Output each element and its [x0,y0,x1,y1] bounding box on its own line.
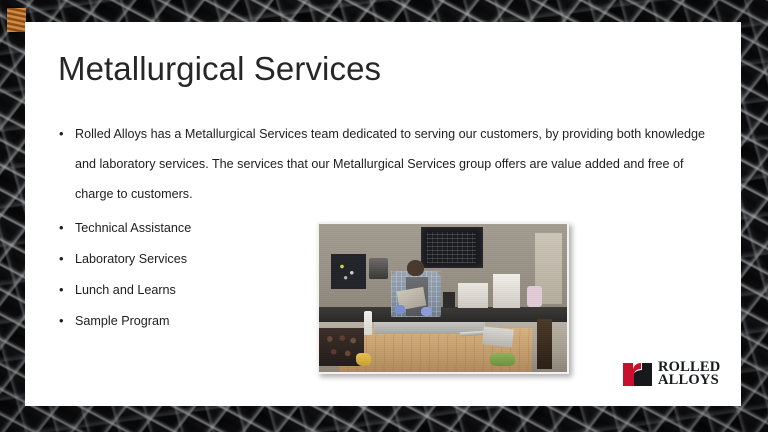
photo-grain-overlay [319,224,567,372]
list-item-text: Laboratory Services [75,252,187,266]
page-title: Metallurgical Services [58,48,381,89]
list-item-text: Rolled Alloys has a Metallurgical Servic… [75,127,705,201]
list-item: • Rolled Alloys has a Metallurgical Serv… [53,119,723,209]
bullet-marker-icon: • [59,244,64,274]
bullet-marker-icon: • [59,119,64,149]
bullet-marker-icon: • [59,275,64,305]
background-copper-swatch [7,8,26,32]
slide-content-panel: Metallurgical Services • Rolled Alloys h… [25,22,741,406]
bullet-marker-icon: • [59,213,64,243]
list-item-text: Lunch and Learns [75,283,176,297]
list-item-text: Sample Program [75,314,170,328]
logo-line-2: ALLOYS [658,374,720,388]
logo-wordmark: ROLLED ALLOYS [658,361,720,388]
rolled-alloys-logo: ROLLED ALLOYS [622,356,734,392]
metallurgical-lab-photo [317,222,569,374]
photo-content [319,224,567,372]
presentation-slide: Metallurgical Services • Rolled Alloys h… [0,0,768,432]
list-item-text: Technical Assistance [75,221,191,235]
rolled-alloys-mark-icon [622,360,654,389]
bullet-marker-icon: • [59,306,64,336]
